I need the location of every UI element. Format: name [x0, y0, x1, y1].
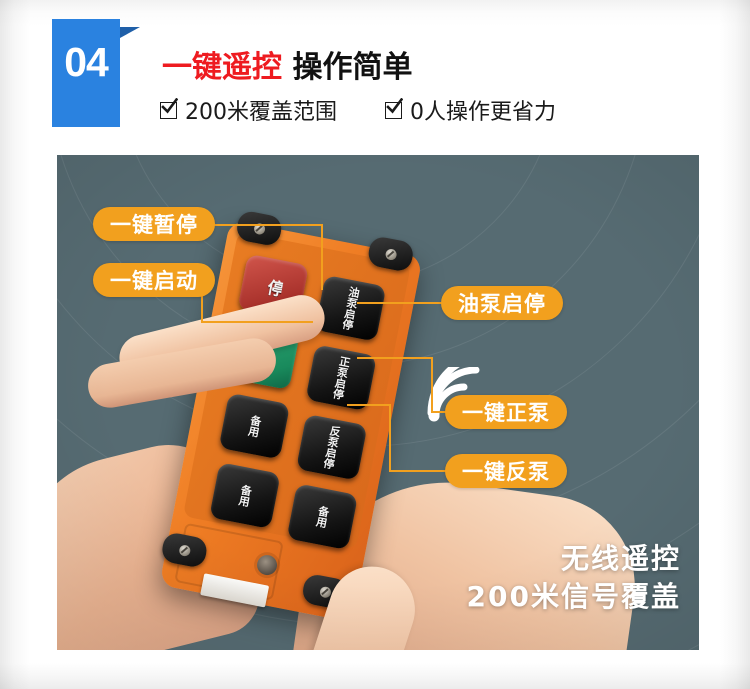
badge-number: 04	[64, 42, 108, 83]
photo-caption: 无线遥控 200米信号覆盖	[467, 540, 681, 616]
check-mark-icon	[161, 98, 178, 115]
connector-forward-pump-v	[431, 357, 433, 413]
feature-item-0: 200米覆盖范围	[160, 94, 337, 126]
connector-pause-vertical	[321, 224, 323, 290]
callout-start-label: 一键启动	[110, 265, 198, 295]
callout-oil-pump[interactable]: 油泵启停	[441, 286, 563, 320]
checkbox-checked-icon	[160, 101, 178, 119]
feature-item-1: 0人操作更省力	[385, 94, 556, 126]
page-card: 04 一键遥控 操作简单 200米覆盖范围	[0, 0, 750, 689]
connector-reverse-pump-h1	[347, 404, 391, 406]
feature-label-1: 0人操作更省力	[410, 94, 556, 126]
photo-caption-line1: 无线遥控	[467, 540, 681, 578]
feature-list: 200米覆盖范围 0人操作更省力	[160, 94, 556, 126]
page-title-accent: 一键遥控	[162, 50, 282, 85]
badge-ribbon-fold-icon	[120, 27, 140, 38]
connector-reverse-pump-v	[389, 404, 391, 472]
connector-pause-horizontal	[203, 224, 323, 226]
callout-start[interactable]: 一键启动	[93, 263, 215, 297]
check-mark-icon	[386, 98, 403, 115]
callout-oil-pump-label: 油泵启停	[458, 288, 546, 318]
connector-oil-pump-horizontal	[357, 302, 443, 304]
header: 04 一键遥控 操作简单 200米覆盖范围	[0, 0, 750, 150]
page-title: 一键遥控 操作简单	[162, 42, 412, 86]
callout-forward-pump-label: 一键正泵	[462, 397, 550, 427]
callout-forward-pump[interactable]: 一键正泵	[445, 395, 567, 429]
connector-start-horizontal	[201, 321, 313, 323]
connector-reverse-pump-h2	[389, 470, 447, 472]
callout-reverse-pump[interactable]: 一键反泵	[445, 454, 567, 488]
product-photo: 停 油泵启停 动 正泵启停 备用	[57, 155, 699, 650]
checkbox-checked-icon	[385, 101, 403, 119]
badge-box: 04	[52, 19, 120, 127]
callout-pause[interactable]: 一键暂停	[93, 207, 215, 241]
connector-forward-pump-h1	[357, 357, 433, 359]
callout-reverse-pump-label: 一键反泵	[462, 456, 550, 486]
callout-pause-label: 一键暂停	[110, 209, 198, 239]
page-title-rest: 操作简单	[292, 50, 412, 85]
section-number-badge: 04	[52, 19, 120, 127]
photo-caption-line2: 200米信号覆盖	[467, 578, 681, 616]
feature-label-0: 200米覆盖范围	[185, 94, 337, 126]
